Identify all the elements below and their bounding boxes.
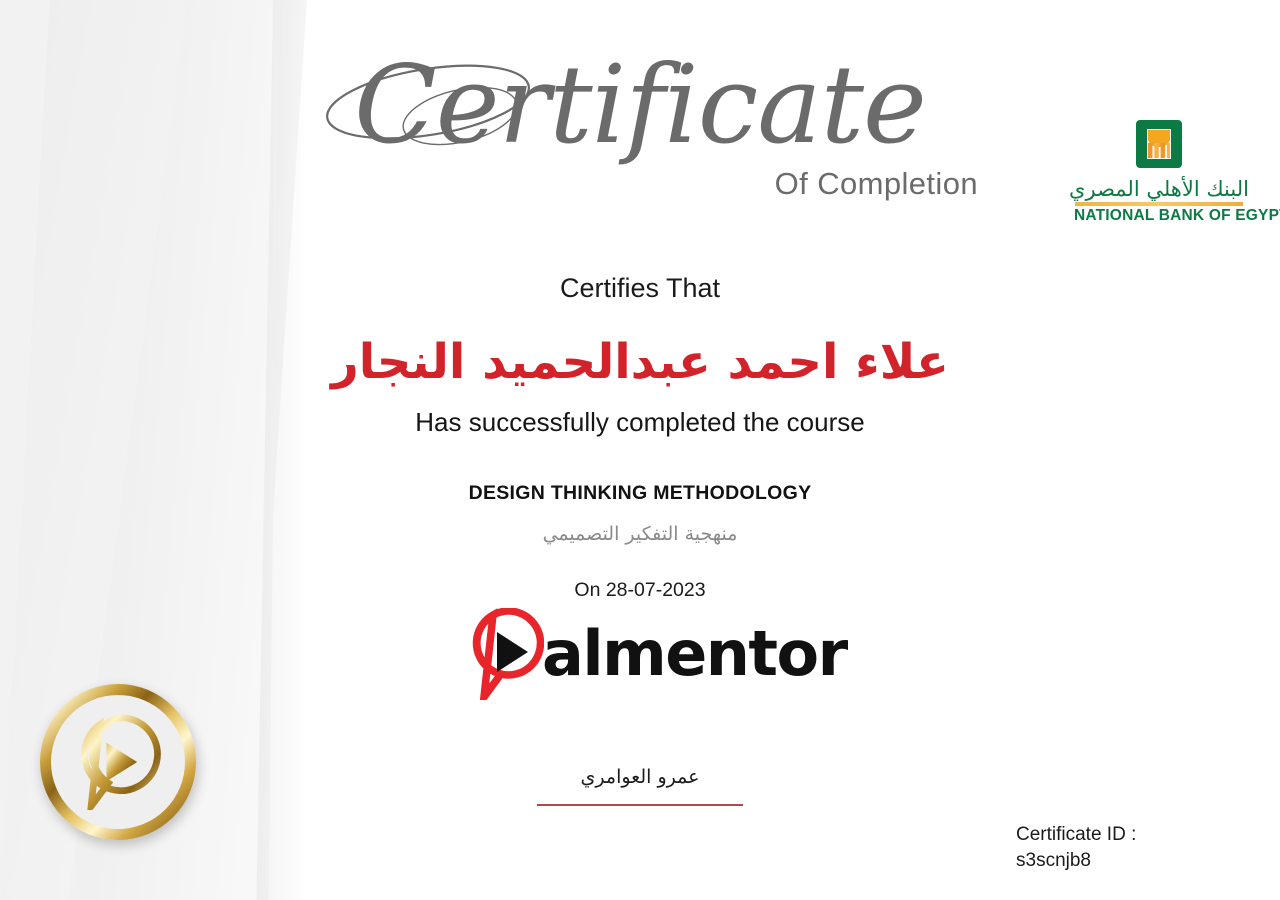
recipient-name: علاء احمد عبدالحميد النجار: [280, 330, 1000, 395]
nbe-arabic-name: البنك الأهلي المصري: [1068, 177, 1250, 201]
almentor-wordmark: almentor: [542, 623, 847, 685]
signature-rule: [537, 804, 743, 806]
nbe-pillar-emblem-icon: [1134, 118, 1184, 170]
signature-block: عمرو العوامري: [480, 766, 800, 806]
seal-play-bubble-icon: [70, 714, 166, 810]
certifies-label: Certifies That: [280, 272, 1000, 304]
course-title-arabic: منهجية التفكير التصميمي: [280, 523, 1000, 545]
certificate-id-label: Certificate ID :: [1016, 822, 1136, 848]
national-bank-of-egypt-logo: البنك الأهلي المصري NATIONAL BANK OF EGY…: [1068, 118, 1250, 234]
certificate-document: Certificate Of Completion البنك الأهلي ا…: [0, 0, 1280, 900]
course-title-english: DESIGN THINKING METHODOLOGY: [280, 482, 1000, 505]
nbe-english-name: NATIONAL BANK OF EGYPT: [1074, 207, 1250, 225]
nbe-gold-divider: [1075, 202, 1243, 206]
certificate-body: Certifies That علاء احمد عبدالحميد النجا…: [280, 272, 1000, 602]
gold-almentor-seal-icon: [40, 684, 196, 840]
page-subtitle: Of Completion: [300, 166, 980, 202]
almentor-logo: almentor: [470, 606, 815, 702]
certificate-title-block: Certificate Of Completion: [300, 52, 980, 202]
signatory-name: عمرو العوامري: [480, 766, 800, 788]
page-title: Certificate: [300, 52, 980, 160]
almentor-play-bubble-icon: [470, 608, 544, 700]
certificate-id: Certificate ID : s3scnjb8: [1016, 822, 1136, 874]
certificate-id-value: s3scnjb8: [1016, 848, 1136, 874]
completion-statement: Has successfully completed the course: [280, 407, 1000, 438]
completion-date: On 28-07-2023: [280, 579, 1000, 602]
